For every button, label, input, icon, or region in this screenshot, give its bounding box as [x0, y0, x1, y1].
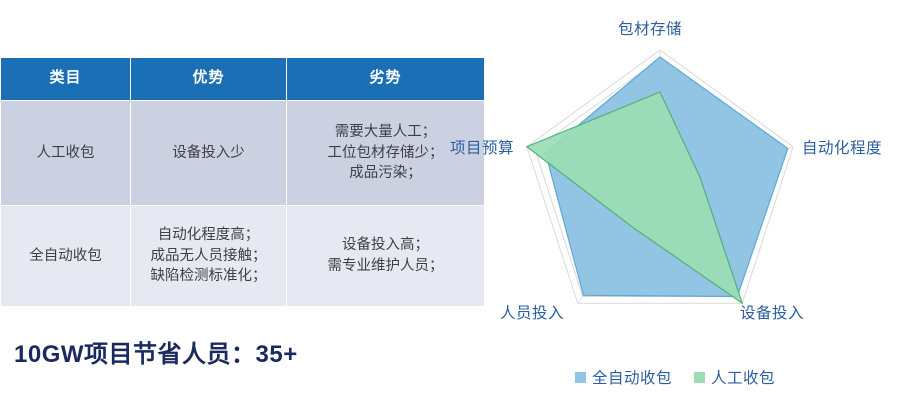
- comparison-table: 类目 优势 劣势 人工收包 设备投入少 需要大量人工； 工位包材存储少； 成品污…: [0, 57, 485, 307]
- chart-legend: 全自动收包 人工收包: [450, 366, 900, 388]
- cell-category: 全自动收包: [1, 206, 131, 307]
- legend-swatch-icon: [694, 372, 705, 383]
- axis-label-2: 设备投入: [740, 301, 804, 323]
- cell-line: 缺陷检测标准化；: [137, 266, 280, 287]
- legend-swatch-icon: [575, 372, 586, 383]
- savings-headline: 10GW项目节省人员：35+: [14, 334, 298, 369]
- legend-item-0[interactable]: 全自动收包: [575, 366, 672, 388]
- cell-line: 自动化程度高；: [137, 225, 280, 246]
- cell-line: 成品无人员接触；: [137, 246, 280, 267]
- cell-line: 设备投入少: [137, 143, 280, 164]
- axis-label-0: 包材存储: [618, 17, 682, 39]
- axis-label-4: 项目预算: [450, 136, 514, 158]
- cell-advantages: 自动化程度高； 成品无人员接触； 缺陷检测标准化；: [131, 206, 287, 307]
- cell-category: 人工收包: [1, 101, 131, 206]
- table-header-row: 类目 优势 劣势: [1, 58, 485, 101]
- table-body: 人工收包 设备投入少 需要大量人工； 工位包材存储少； 成品污染； 全自动收包 …: [1, 101, 485, 307]
- column-header-category: 类目: [1, 58, 131, 101]
- axis-label-1: 自动化程度: [802, 136, 882, 158]
- table-row: 全自动收包 自动化程度高； 成品无人员接触； 缺陷检测标准化； 设备投入高； 需…: [1, 206, 485, 307]
- table-header: 类目 优势 劣势: [1, 58, 485, 101]
- legend-label: 全自动收包: [592, 366, 672, 388]
- radar-chart: 包材存储 自动化程度 设备投入 人员投入 项目预算 全自动收包 人工收包: [450, 0, 900, 407]
- legend-item-1[interactable]: 人工收包: [694, 366, 775, 388]
- column-header-advantages: 优势: [131, 58, 287, 101]
- axis-label-3: 人员投入: [500, 301, 564, 323]
- cell-advantages: 设备投入少: [131, 101, 287, 206]
- table-row: 人工收包 设备投入少 需要大量人工； 工位包材存储少； 成品污染；: [1, 101, 485, 206]
- legend-label: 人工收包: [711, 366, 775, 388]
